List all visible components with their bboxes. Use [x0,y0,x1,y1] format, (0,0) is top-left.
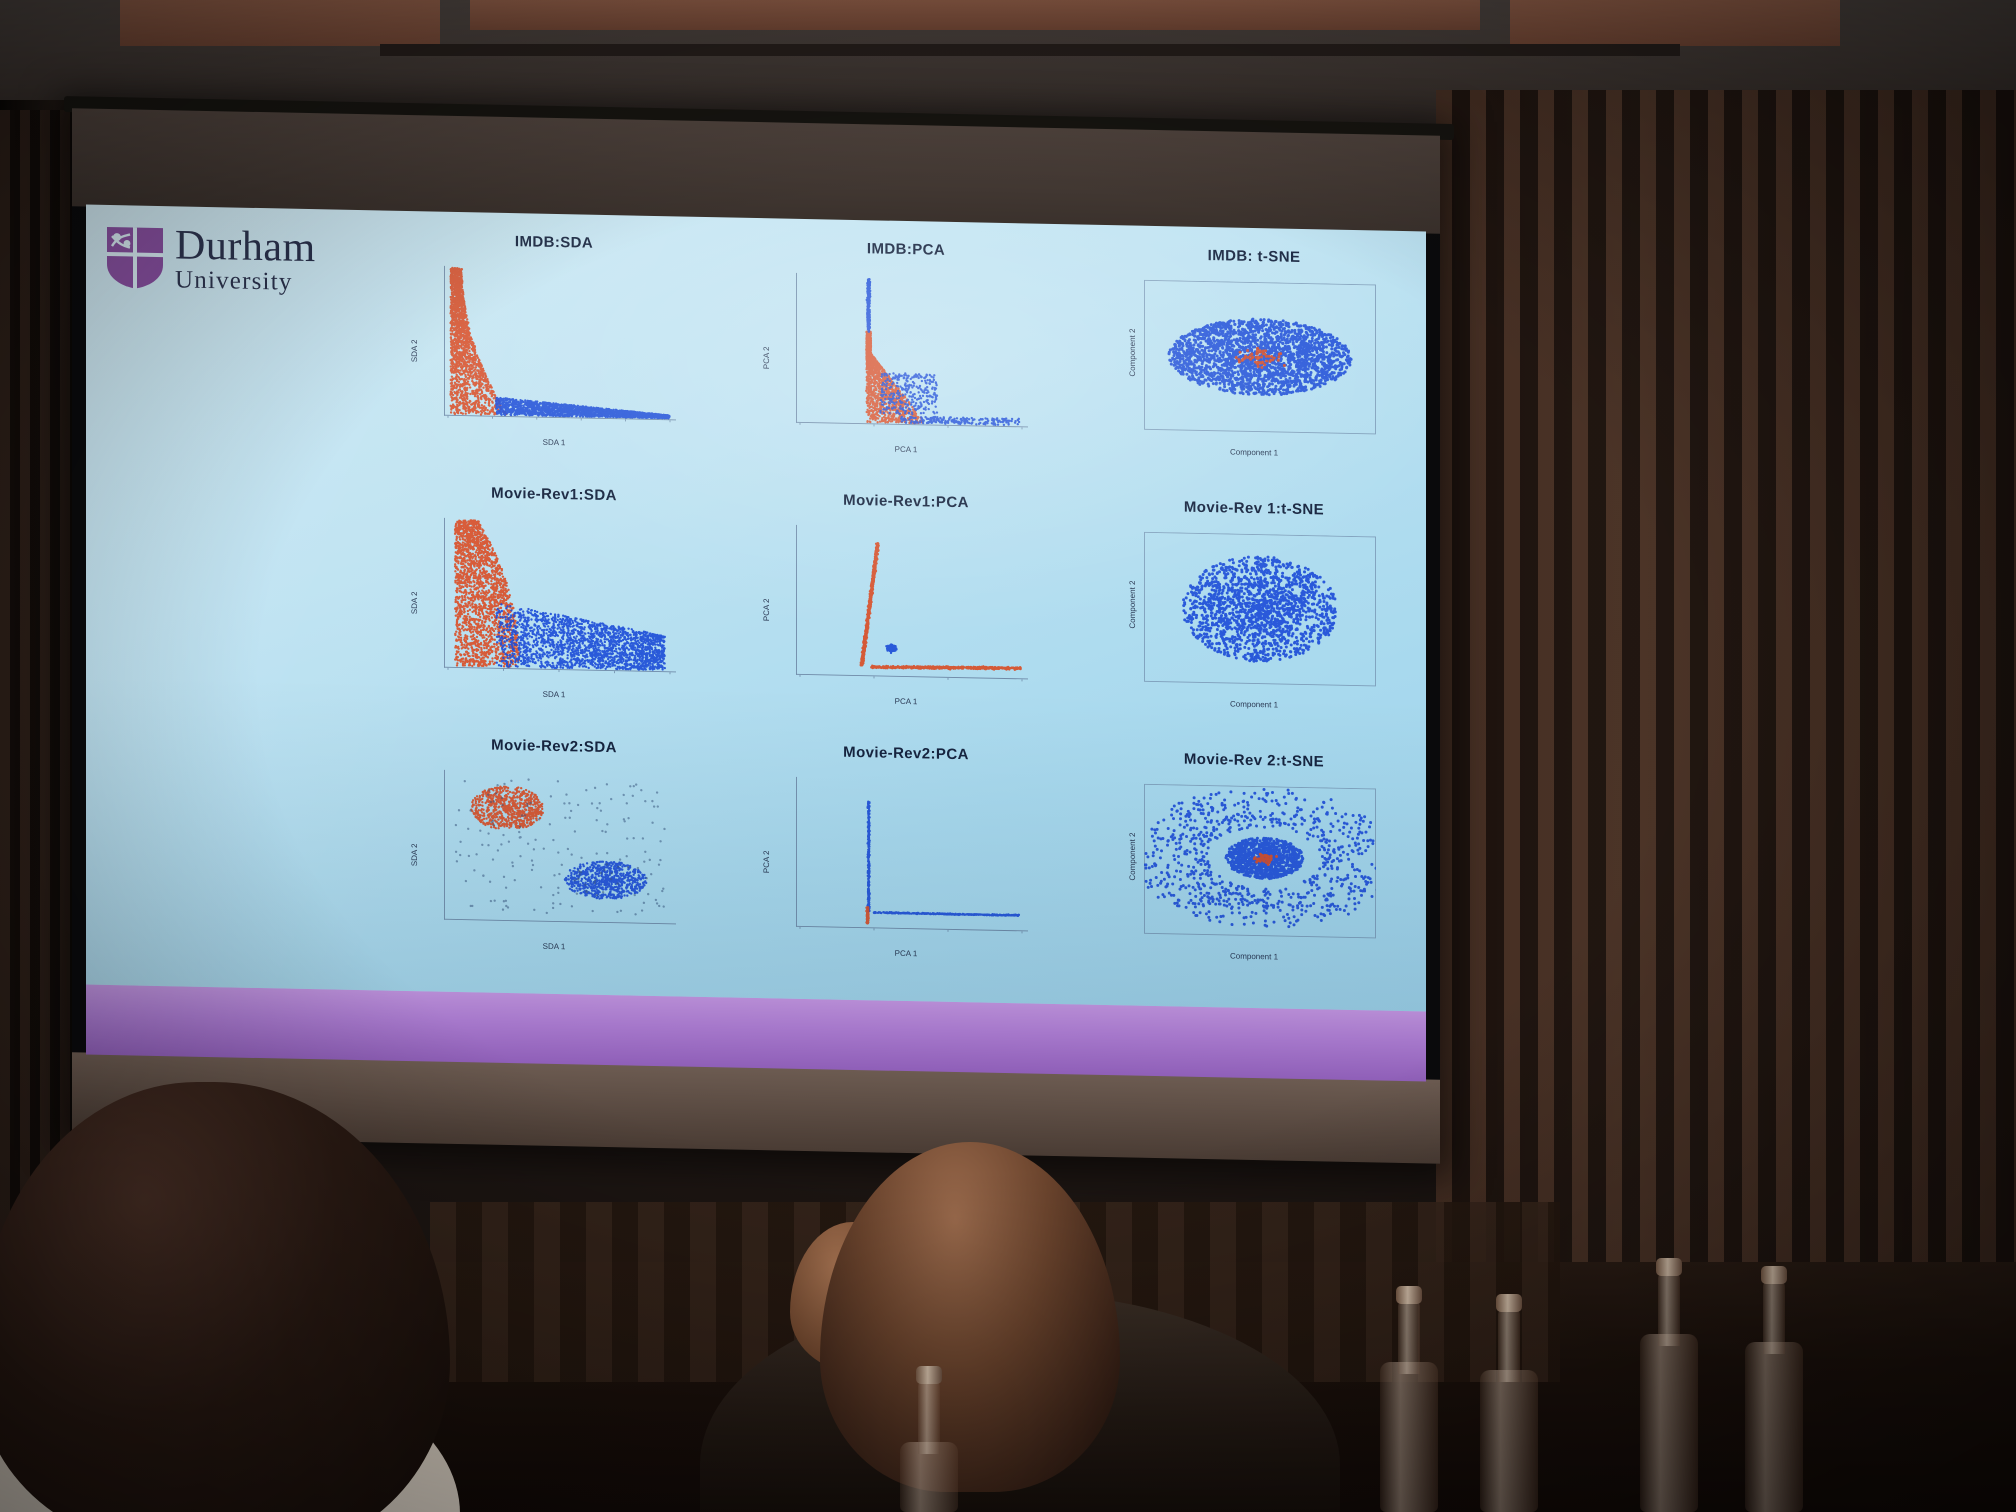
x-axis-label: Component 1 [1086,445,1422,461]
y-axis-label: SDA 2 [410,591,419,614]
plot-axes: -0.500.5100.20.40.60.81 [796,777,1028,934]
y-axis-label: SDA 2 [410,843,419,866]
shield-icon [104,224,166,291]
x-axis-label: PCA 1 [738,946,1074,962]
ceiling-slot [380,44,1680,56]
series-class-a [454,519,520,669]
slide: Durham University IMDB:SDA0246810SDA 1SD… [86,205,1426,1012]
plot-cell-1: IMDB:SDA0246810SDA 1SDA 2 [386,231,722,484]
plot-axes [444,770,676,927]
series-class-b [885,643,898,654]
plot-title: Movie-Rev 1:t-SNE [1086,497,1422,521]
plot-title: Movie-Rev1:SDA [386,483,722,507]
water-bottle [1380,1362,1438,1512]
plot-cell-4: Movie-Rev1:SDA0.0000.0050.0100.0150.0200… [386,483,722,736]
plot-title: Movie-Rev2:PCA [738,742,1074,766]
plot-grid: IMDB:SDA0246810SDA 1SDA 2IMDB:PCA-0.500.… [386,231,1406,1011]
plot-axes [1144,280,1376,437]
series-class-b [495,397,671,420]
plot-cell-2: IMDB:PCA-0.500.5100.20.40.60.81PCA 1PCA … [738,238,1074,491]
plot-cell-5: Movie-Rev1:PCA-0.500.5100.20.40.60.81PCA… [738,490,1074,743]
plot-cell-9: Movie-Rev 2:t-SNEComponent 1Component 2 [1086,749,1422,1002]
y-axis-label: Component 2 [1128,832,1137,880]
plot-axes: 0246810 [444,266,676,423]
svg-text:-0.5: -0.5 [796,429,806,430]
y-axis-label: PCA 2 [762,598,771,621]
plot-cell-6: Movie-Rev 1:t-SNEComponent 1Component 2 [1086,497,1422,750]
plot-cell-7: Movie-Rev2:SDASDA 1SDA 2 [386,735,722,988]
plot-cell-8: Movie-Rev2:PCA-0.500.5100.20.40.60.81PCA… [738,742,1074,995]
x-axis-label: SDA 1 [386,939,722,955]
y-axis-label: PCA 2 [762,346,771,369]
projection-screen: Durham University IMDB:SDA0246810SDA 1SD… [72,108,1440,1163]
x-axis-label: SDA 1 [386,435,722,451]
y-axis-label: Component 2 [1128,328,1137,376]
x-axis-label: PCA 1 [738,694,1074,710]
series-class-a [860,542,1022,673]
plot-title: IMDB: t-SNE [1086,245,1422,269]
water-bottle [1640,1334,1698,1512]
ceiling-panel [470,0,1480,30]
plot-title: Movie-Rev2:SDA [386,735,722,759]
y-axis-label: PCA 2 [762,850,771,873]
curtain-right [1436,90,2016,1320]
attendee-1-head [0,1082,450,1512]
series-class-b [866,800,1020,917]
x-axis-label: Component 1 [1086,949,1422,965]
y-axis-label: Component 2 [1128,580,1137,628]
series-class-a [449,267,507,416]
x-axis-label: PCA 1 [738,442,1074,458]
plot-axes: -0.500.5100.20.40.60.81 [796,273,1028,430]
series-noise [455,777,666,917]
x-axis-label: Component 1 [1086,697,1422,713]
curtain-left [0,110,80,1260]
plot-axes: -0.500.5100.20.40.60.81 [796,525,1028,682]
svg-text:0: 0 [446,422,450,423]
plot-axes [1144,532,1376,689]
water-bottle [1745,1342,1803,1512]
attendee-2-head [820,1142,1120,1492]
plot-title: Movie-Rev 2:t-SNE [1086,749,1422,773]
series-class-a [470,785,544,830]
water-bottle [1480,1370,1538,1512]
x-axis-label: SDA 1 [386,687,722,703]
plot-title: Movie-Rev1:PCA [738,490,1074,514]
conference-room: Durham University IMDB:SDA0246810SDA 1SD… [0,0,2016,1512]
plot-title: IMDB:PCA [738,238,1074,262]
ceiling-panel [1510,0,1840,46]
water-bottle [900,1442,958,1512]
ceiling-panel [120,0,440,46]
durham-university-logo: Durham University [104,223,316,295]
y-axis-label: SDA 2 [410,339,419,362]
plot-title: IMDB:SDA [386,231,722,255]
plot-cell-3: IMDB: t-SNEComponent 1Component 2 [1086,245,1422,498]
series-class-b [495,603,666,671]
plot-axes: 0.0000.0050.0100.0150.0200.0020.0040.006… [444,518,676,675]
series-class-b [1182,554,1337,664]
logo-name: Durham [175,224,316,269]
plot-axes [1144,784,1376,941]
logo-subtitle: University [175,267,316,295]
